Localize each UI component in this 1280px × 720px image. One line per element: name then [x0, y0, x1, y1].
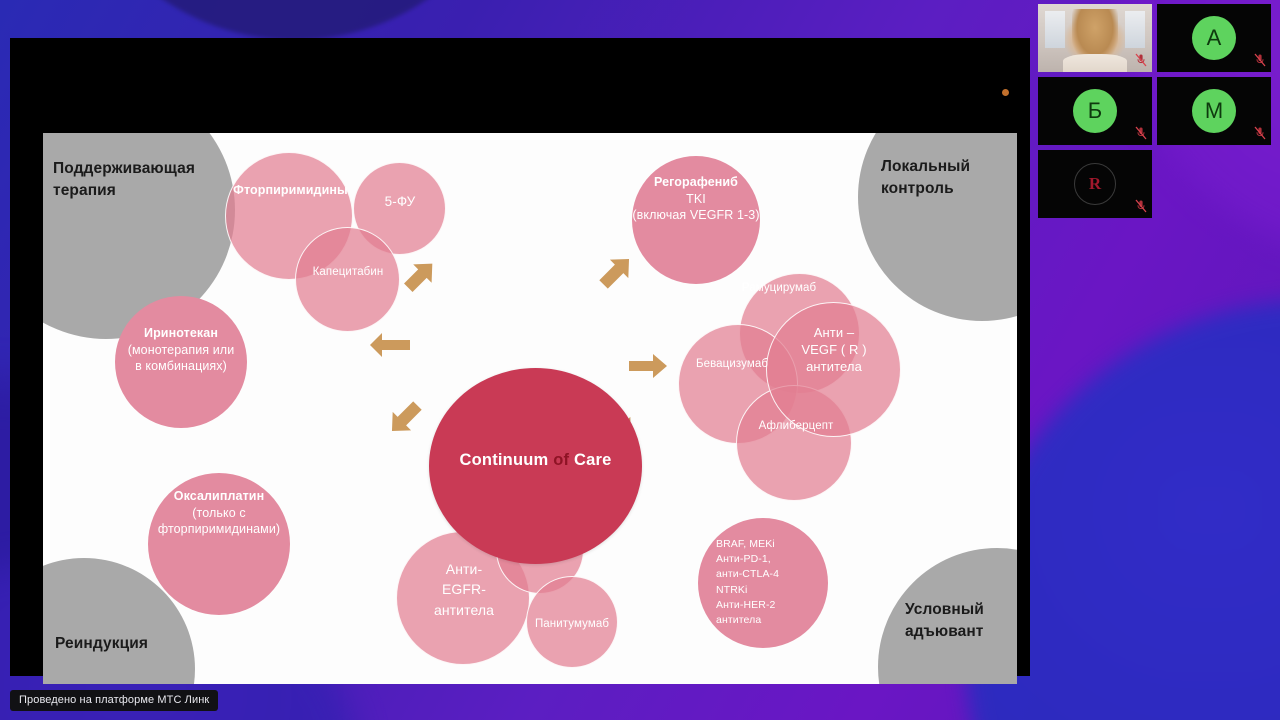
label-targeted-line5: Анти-HER-2: [716, 598, 826, 613]
label-regorafenib-line1: Регорафениб: [623, 174, 769, 191]
avatar: А: [1192, 16, 1236, 60]
label-anti-vegf-line3: антитела: [774, 358, 894, 375]
label-aflibercept: Афлиберцепт: [737, 419, 855, 434]
presentation-slide: Поддерживающая терапия Локальный контрол…: [43, 133, 1017, 684]
label-irinotecan-sub1: (монотерапия или: [115, 342, 247, 359]
center-text-after: Care: [569, 451, 611, 469]
corner-label-bottom-right-line1: Условный: [905, 599, 1017, 621]
corner-label-bottom-left-line1: Реиндукция: [55, 633, 230, 655]
participant-tiles: А Б М R: [1038, 4, 1276, 216]
label-irinotecan-title: Иринотекан: [115, 325, 247, 342]
meeting-screen: Поддерживающая терапия Локальный контрол…: [0, 0, 1280, 720]
participant-tile-video[interactable]: [1038, 4, 1152, 72]
mic-muted-icon: [1254, 126, 1266, 140]
label-oxaliplatin: Оксалиплатин (только с фторпиримидинами): [143, 488, 295, 538]
label-panitumumab: Панитумумаб: [520, 617, 624, 632]
recording-dot-icon: [1002, 89, 1009, 96]
company-logo-icon: R: [1074, 163, 1116, 205]
label-irinotecan: Иринотекан (монотерапия или в комбинация…: [115, 325, 247, 375]
label-irinotecan-sub2: в комбинациях): [115, 358, 247, 375]
corner-label-top-right-line2: контроль: [881, 178, 1017, 200]
mic-muted-icon: [1135, 199, 1147, 213]
platform-banner: Проведено на платформе МТС Линк: [10, 690, 218, 711]
label-anti-egfr-line1: Анти-: [409, 559, 519, 579]
label-regorafenib-line3: (включая VEGFR 1-3): [623, 207, 769, 224]
label-targeted-line2: Анти-PD-1,: [716, 552, 826, 567]
center-circle-label: Continuum of Care: [429, 451, 642, 470]
corner-label-bottom-left: Реиндукция: [55, 633, 230, 655]
label-targeted-line3: анти-CTLA-4: [716, 567, 826, 582]
label-targeted-line1: BRAF, MEKi: [716, 537, 826, 552]
corner-label-bottom-right: Условный адъювант: [905, 599, 1017, 644]
label-ramucirumab-text: Рамуцирумаб: [715, 281, 843, 296]
mic-muted-icon: [1254, 53, 1266, 67]
label-regorafenib-line2: TKI: [623, 191, 769, 208]
shared-screen-frame[interactable]: Поддерживающая терапия Локальный контрол…: [10, 38, 1030, 676]
corner-label-top-left: Поддерживающая терапия: [53, 158, 233, 203]
label-anti-vegf-line1: Анти –: [774, 324, 894, 341]
label-targeted-line4: NTRKi: [716, 583, 826, 598]
window-right: [1125, 11, 1146, 48]
corner-label-top-right: Локальный контроль: [881, 156, 1017, 201]
participant-tile-m[interactable]: М: [1157, 77, 1271, 145]
mic-muted-icon: [1135, 53, 1147, 67]
corner-label-bottom-right-line2: адъювант: [905, 621, 1017, 643]
label-targeted-therapies: BRAF, MEKi Анти-PD-1, анти-CTLA-4 NTRKi …: [716, 537, 826, 628]
label-capecitabine: Капецитабин: [294, 265, 402, 280]
label-anti-egfr: Анти- EGFR- антитела: [409, 559, 519, 620]
mic-muted-icon: [1135, 126, 1147, 140]
avatar: М: [1192, 89, 1236, 133]
corner-label-top-left-line1: Поддерживающая: [53, 158, 233, 180]
center-text-before: Continuum: [460, 451, 554, 469]
label-aflibercept-text: Афлиберцепт: [737, 419, 855, 434]
label-fluoropyrimidines-text: Фторпиримидины: [223, 182, 358, 199]
label-oxaliplatin-title: Оксалиплатин: [143, 488, 295, 505]
center-text-accent: of: [553, 451, 569, 469]
corner-label-top-right-line1: Локальный: [881, 156, 1017, 178]
participant-tile-a[interactable]: А: [1157, 4, 1271, 72]
avatar: Б: [1073, 89, 1117, 133]
label-anti-egfr-line2: EGFR-: [409, 579, 519, 599]
participant-tile-b[interactable]: Б: [1038, 77, 1152, 145]
corner-label-top-left-line2: терапия: [53, 180, 233, 202]
label-targeted-line6: антитела: [716, 613, 826, 628]
label-oxaliplatin-sub1: (только с: [143, 505, 295, 522]
label-fluoropyrimidines: Фторпиримидины: [223, 182, 358, 199]
label-anti-egfr-line3: антитела: [409, 600, 519, 620]
label-anti-vegf-line2: VEGF ( R ): [774, 341, 894, 358]
label-oxaliplatin-sub2: фторпиримидинами): [143, 521, 295, 538]
label-regorafenib: Регорафениб TKI (включая VEGFR 1-3): [623, 174, 769, 224]
label-capecitabine-text: Капецитабин: [294, 265, 402, 280]
person-body: [1063, 54, 1127, 72]
label-panitumumab-text: Панитумумаб: [520, 617, 624, 632]
participant-tile-logo[interactable]: R: [1038, 150, 1152, 218]
label-ramucirumab: Рамуцирумаб: [715, 281, 843, 296]
label-anti-vegf: Анти – VEGF ( R ) антитела: [774, 324, 894, 375]
window-left: [1045, 11, 1066, 48]
company-logo-letter: R: [1089, 174, 1101, 194]
label-5fu: 5-ФУ: [361, 193, 439, 211]
label-5fu-text: 5-ФУ: [361, 193, 439, 211]
